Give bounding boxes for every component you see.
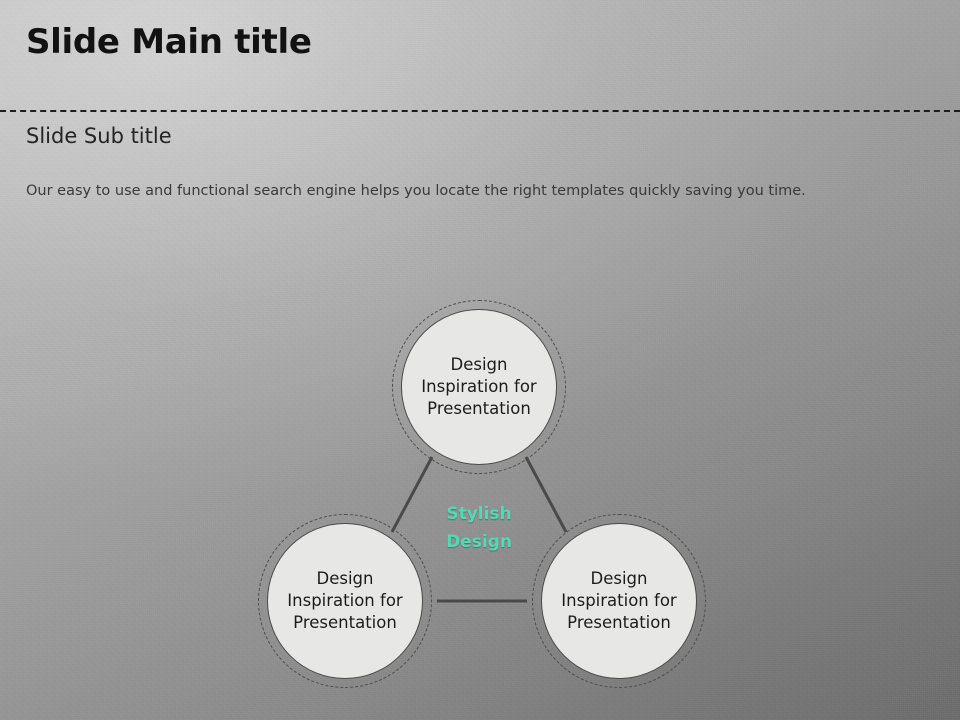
slide-canvas: Slide Main title Slide Sub title Our eas… <box>0 0 960 720</box>
node-circle-top[interactable]: DesignInspiration forPresentation <box>401 309 557 465</box>
node-right-line3: Presentation <box>567 613 671 632</box>
node-left-line3: Presentation <box>293 613 397 632</box>
node-top-line2: Inspiration for <box>421 377 536 396</box>
node-top-text: DesignInspiration forPresentation <box>413 354 544 419</box>
node-top-line1: Design <box>451 355 508 374</box>
node-circle-right[interactable]: DesignInspiration forPresentation <box>541 523 697 679</box>
node-circle-left[interactable]: DesignInspiration forPresentation <box>267 523 423 679</box>
node-right-line1: Design <box>591 569 648 588</box>
node-right-text: DesignInspiration forPresentation <box>553 568 684 633</box>
node-top-line3: Presentation <box>427 399 531 418</box>
diagram-center-label: Stylish Design <box>419 500 539 556</box>
center-label-line2: Design <box>446 532 512 552</box>
page-title: Slide Main title <box>26 22 960 62</box>
venn-cycle-diagram: DesignInspiration forPresentation Design… <box>0 82 960 720</box>
node-left-text: DesignInspiration forPresentation <box>279 568 410 633</box>
node-left-line2: Inspiration for <box>287 591 402 610</box>
node-right-line2: Inspiration for <box>561 591 676 610</box>
node-left-line1: Design <box>317 569 374 588</box>
center-label-line1: Stylish <box>446 504 511 524</box>
